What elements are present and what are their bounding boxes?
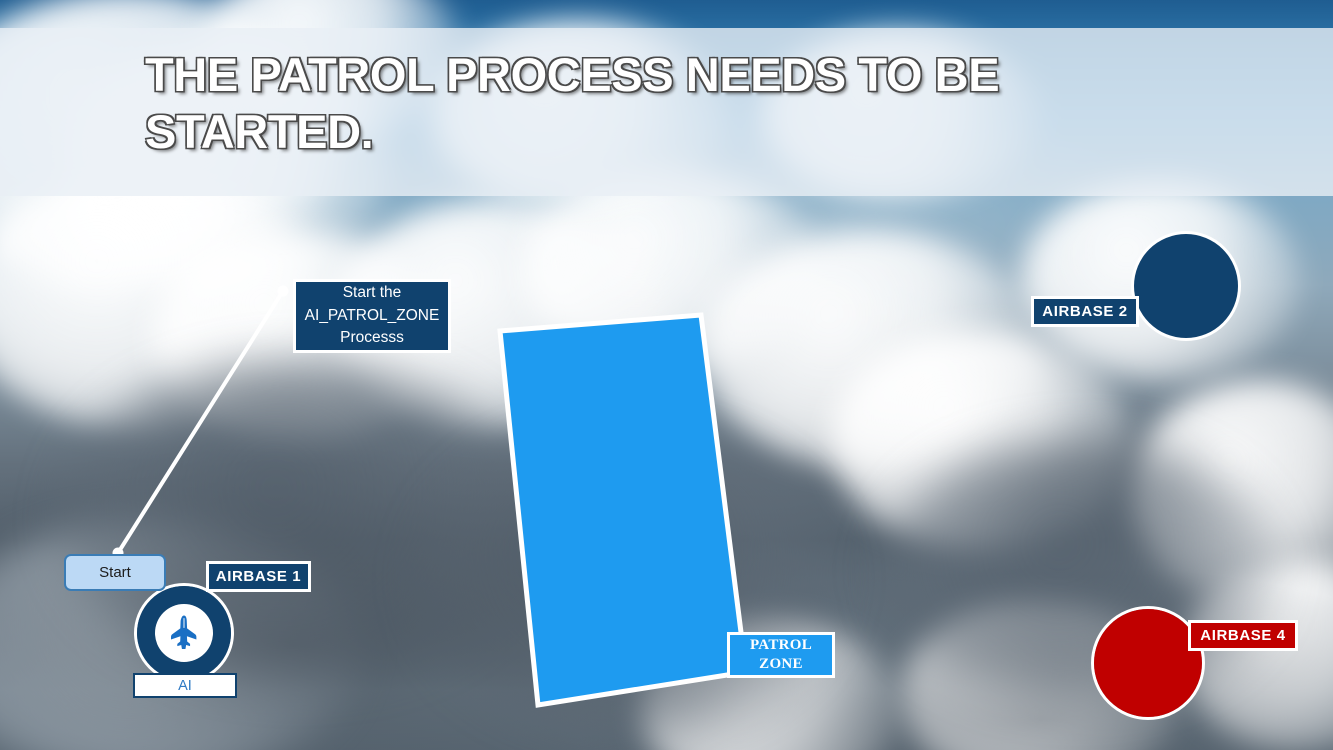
start-node-label: Start: [99, 564, 131, 581]
fighter-jet-icon: [155, 604, 213, 662]
page-title: THE PATROL PROCESS NEEDS TO BE STARTED.: [145, 46, 1155, 161]
airbase-1-sublabel[interactable]: AI: [133, 673, 237, 698]
airbase-4-label[interactable]: AIRBASE 4: [1188, 620, 1298, 651]
airbase-1-label[interactable]: AIRBASE 1: [206, 561, 311, 592]
callout-process-text: Start the AI_PATROL_ZONE Processs: [305, 282, 440, 349]
patrol-zone-label[interactable]: PATROL ZONE: [727, 632, 835, 678]
airbase-4-label-text: AIRBASE 4: [1200, 627, 1285, 644]
airbase-2-label[interactable]: AIRBASE 2: [1031, 296, 1139, 327]
callout-start-process[interactable]: Start the AI_PATROL_ZONE Processs: [293, 279, 451, 353]
patrol-zone-label-text: PATROL ZONE: [750, 636, 812, 674]
airbase-1-label-text: AIRBASE 1: [216, 568, 301, 585]
start-node[interactable]: Start: [64, 554, 166, 591]
cloud-shape: [880, 440, 1280, 700]
airbase-1-sublabel-text: AI: [178, 678, 192, 694]
airbase-2-label-text: AIRBASE 2: [1042, 303, 1127, 320]
cloud-shape: [420, 430, 840, 730]
slide-canvas: THE PATROL PROCESS NEEDS TO BE STARTED. …: [0, 0, 1333, 750]
airbase-2-node[interactable]: [1134, 234, 1238, 338]
airbase-4-node[interactable]: [1094, 609, 1202, 717]
